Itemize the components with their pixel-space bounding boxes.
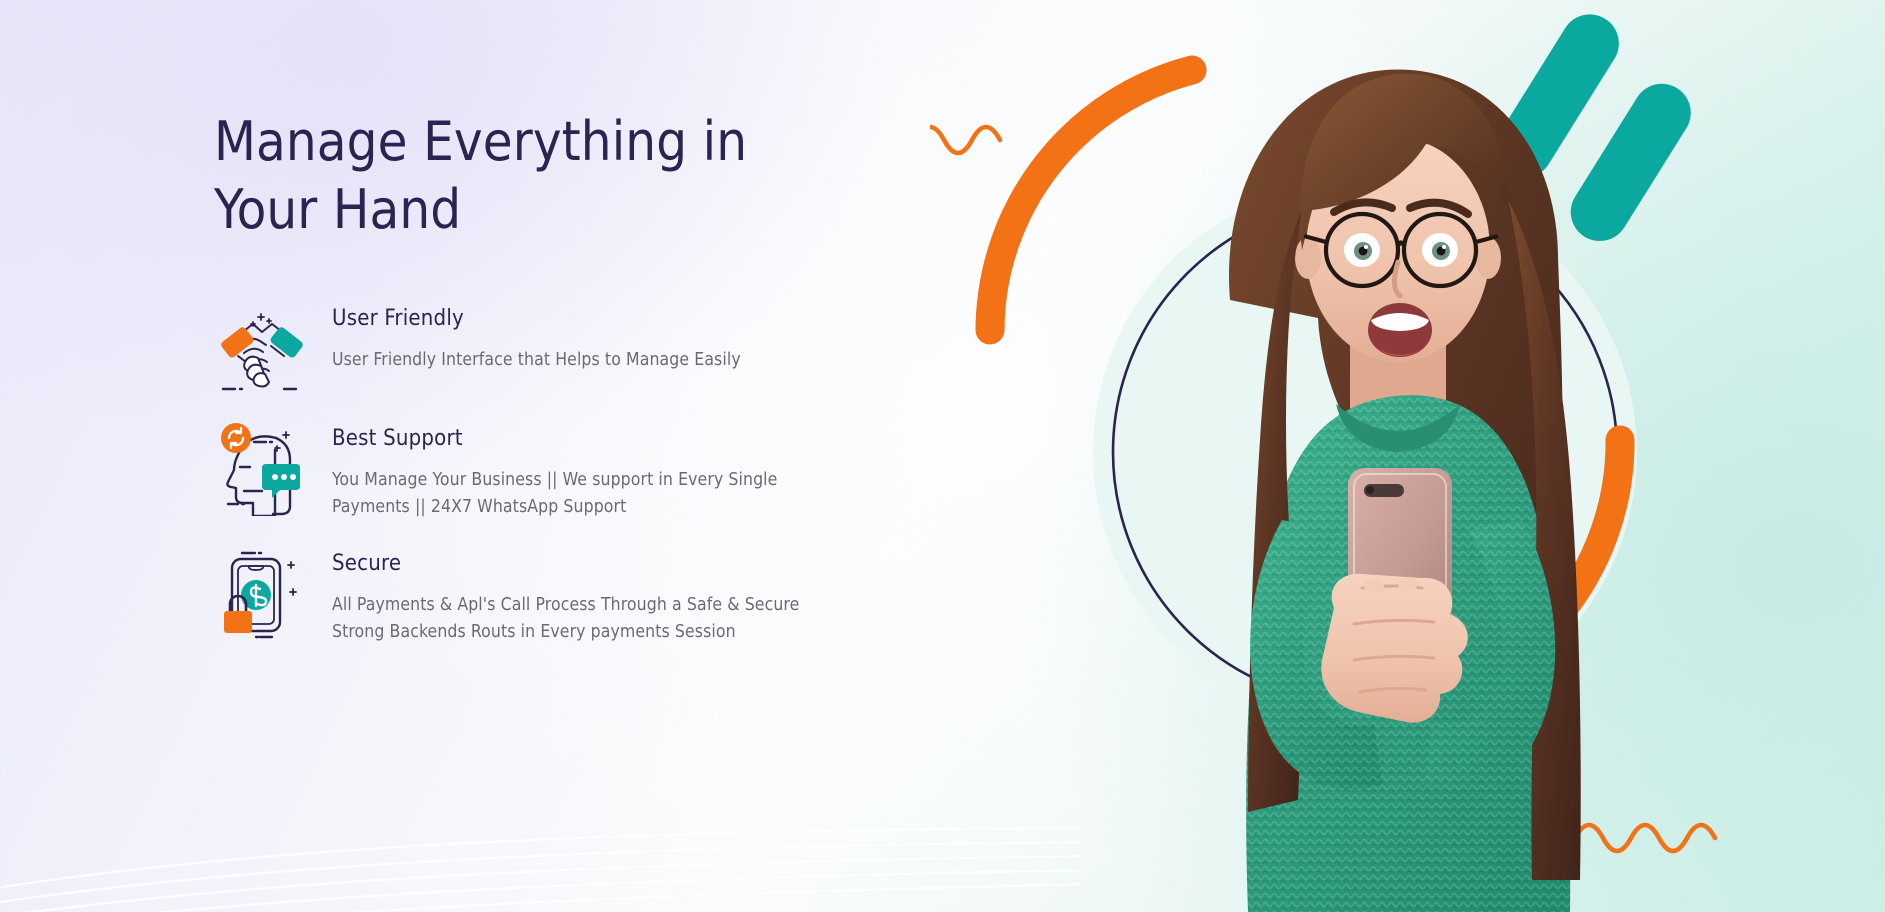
feature-title: User Friendly bbox=[332, 306, 741, 331]
bottom-wave-lines bbox=[0, 772, 1080, 912]
hero-artwork bbox=[930, 0, 1885, 912]
handshake-icon bbox=[214, 300, 310, 396]
feature-item-secure: Secure All Payments & Apl's Call Process… bbox=[214, 545, 934, 646]
feature-title: Best Support bbox=[332, 426, 777, 451]
feature-item-best-support: Best Support You Manage Your Business ||… bbox=[214, 420, 934, 521]
hero-copy: Manage Everything in Your Hand bbox=[214, 108, 914, 244]
orange-squiggle-bottom bbox=[1575, 825, 1715, 851]
woman-photo bbox=[1229, 69, 1581, 912]
feature-list: User Friendly User Friendly Interface th… bbox=[214, 300, 934, 647]
feature-description: All Payments & Apl's Call Process Throug… bbox=[332, 592, 799, 646]
feature-description: User Friendly Interface that Helps to Ma… bbox=[332, 347, 741, 374]
page-title: Manage Everything in Your Hand bbox=[214, 108, 914, 244]
feature-description: You Manage Your Business || We support i… bbox=[332, 467, 777, 521]
chat-bubble bbox=[262, 464, 300, 498]
feature-item-user-friendly: User Friendly User Friendly Interface th… bbox=[214, 300, 934, 396]
orange-squiggle-top bbox=[930, 127, 1000, 153]
refresh-icon bbox=[221, 423, 251, 453]
secure-phone-lock-icon bbox=[214, 545, 310, 641]
feature-title: Secure bbox=[332, 551, 799, 576]
head-support-chat-icon bbox=[214, 420, 310, 516]
